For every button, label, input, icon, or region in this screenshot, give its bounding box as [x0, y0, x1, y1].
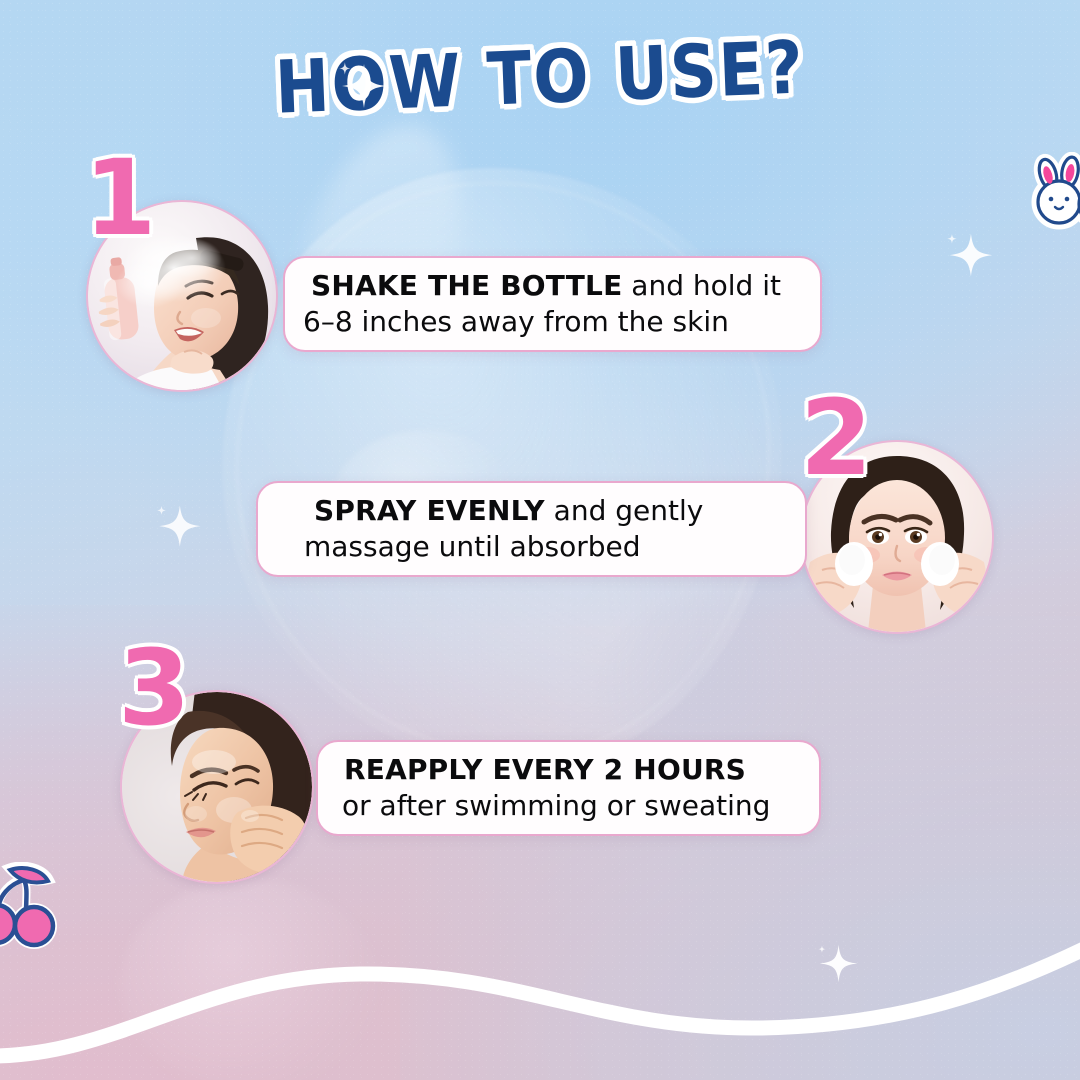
step-3-line-1: REAPPLY EVERY 2 HOURS: [344, 752, 819, 788]
page-title: HOW TO USE?: [274, 32, 806, 125]
bottom-wave-divider: [0, 880, 1080, 1080]
step-3-textbox: REAPPLY EVERY 2 HOURS or after swimming …: [316, 740, 821, 836]
step-1-line-1: SHAKE THE BOTTLE and hold it: [311, 268, 820, 304]
step-1-textbox: SHAKE THE BOTTLE and hold it 6–8 inches …: [283, 256, 822, 352]
step-1-line-2: 6–8 inches away from the skin: [303, 304, 820, 340]
step-1-rest-text: and hold it: [622, 269, 781, 302]
step-3-bold-text: REAPPLY EVERY 2 HOURS: [344, 753, 746, 786]
step-2-textbox: SPRAY EVENLY and gently massage until ab…: [256, 481, 807, 577]
step-2-number: 2: [800, 386, 872, 490]
step-1-number: 1: [84, 146, 156, 250]
step-2-line-1: SPRAY EVENLY and gently: [314, 493, 805, 529]
step-2-bold-text: SPRAY EVENLY: [314, 494, 545, 527]
step-1-bold-text: SHAKE THE BOTTLE: [311, 269, 622, 302]
step-2-line-2: massage until absorbed: [304, 529, 805, 565]
step-3-number: 3: [118, 636, 190, 740]
step-3-line-2: or after swimming or sweating: [342, 788, 819, 824]
infographic-canvas: HOW TO USE?: [0, 0, 1080, 1080]
step-2-rest-text: and gently: [545, 494, 704, 527]
bunny-sticker-icon: [1018, 152, 1080, 241]
